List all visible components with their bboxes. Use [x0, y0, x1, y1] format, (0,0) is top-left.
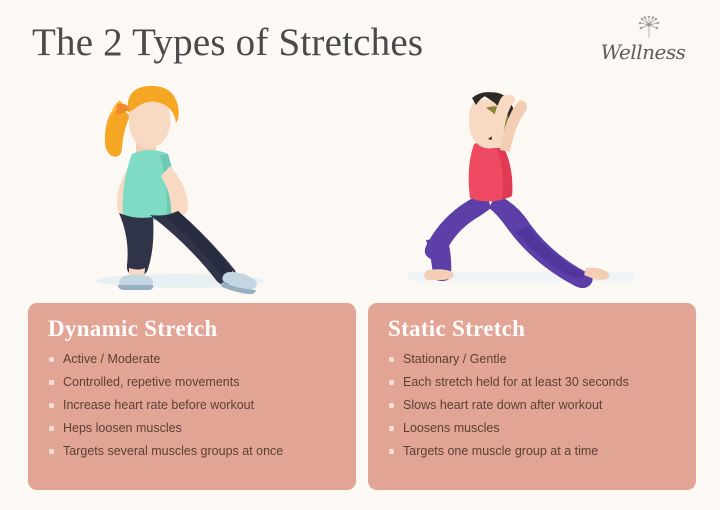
dynamic-stretch-figure: [72, 82, 272, 297]
card-title: Static Stretch: [388, 317, 678, 340]
list-item: Targets one muscle group at a time: [388, 444, 678, 459]
list-item: Increase heart rate before workout: [48, 398, 338, 413]
poster-header: The 2 Types of Stretches: [0, 0, 720, 90]
card-dynamic-stretch: Dynamic Stretch Active / Moderate Contro…: [28, 303, 356, 490]
list-item: Heps loosen muscles: [48, 421, 338, 436]
comparison-cards: Dynamic Stretch Active / Moderate Contro…: [0, 300, 720, 500]
list-item: Loosens muscles: [388, 421, 678, 436]
infographic-poster: The 2 Types of Stretches: [0, 0, 720, 510]
list-item: Targets several muscles groups at once: [48, 444, 338, 459]
brand-name: Wellness: [588, 40, 698, 64]
bullet-list-static: Stationary / Gentle Each stretch held fo…: [388, 352, 678, 459]
brand-logo: Wellness: [588, 16, 698, 74]
bullet-list-dynamic: Active / Moderate Controlled, repetive m…: [48, 352, 338, 459]
list-item: Each stretch held for at least 30 second…: [388, 375, 678, 390]
list-item: Slows heart rate down after workout: [388, 398, 678, 413]
list-item: Stationary / Gentle: [388, 352, 678, 367]
list-item: Controlled, repetive movements: [48, 375, 338, 390]
static-stretch-figure: [400, 82, 640, 297]
page-title: The 2 Types of Stretches: [32, 20, 423, 65]
card-static-stretch: Static Stretch Stationary / Gentle Each …: [368, 303, 696, 490]
illustration-stage: [0, 82, 720, 297]
list-item: Active / Moderate: [48, 352, 338, 367]
card-title: Dynamic Stretch: [48, 317, 338, 340]
